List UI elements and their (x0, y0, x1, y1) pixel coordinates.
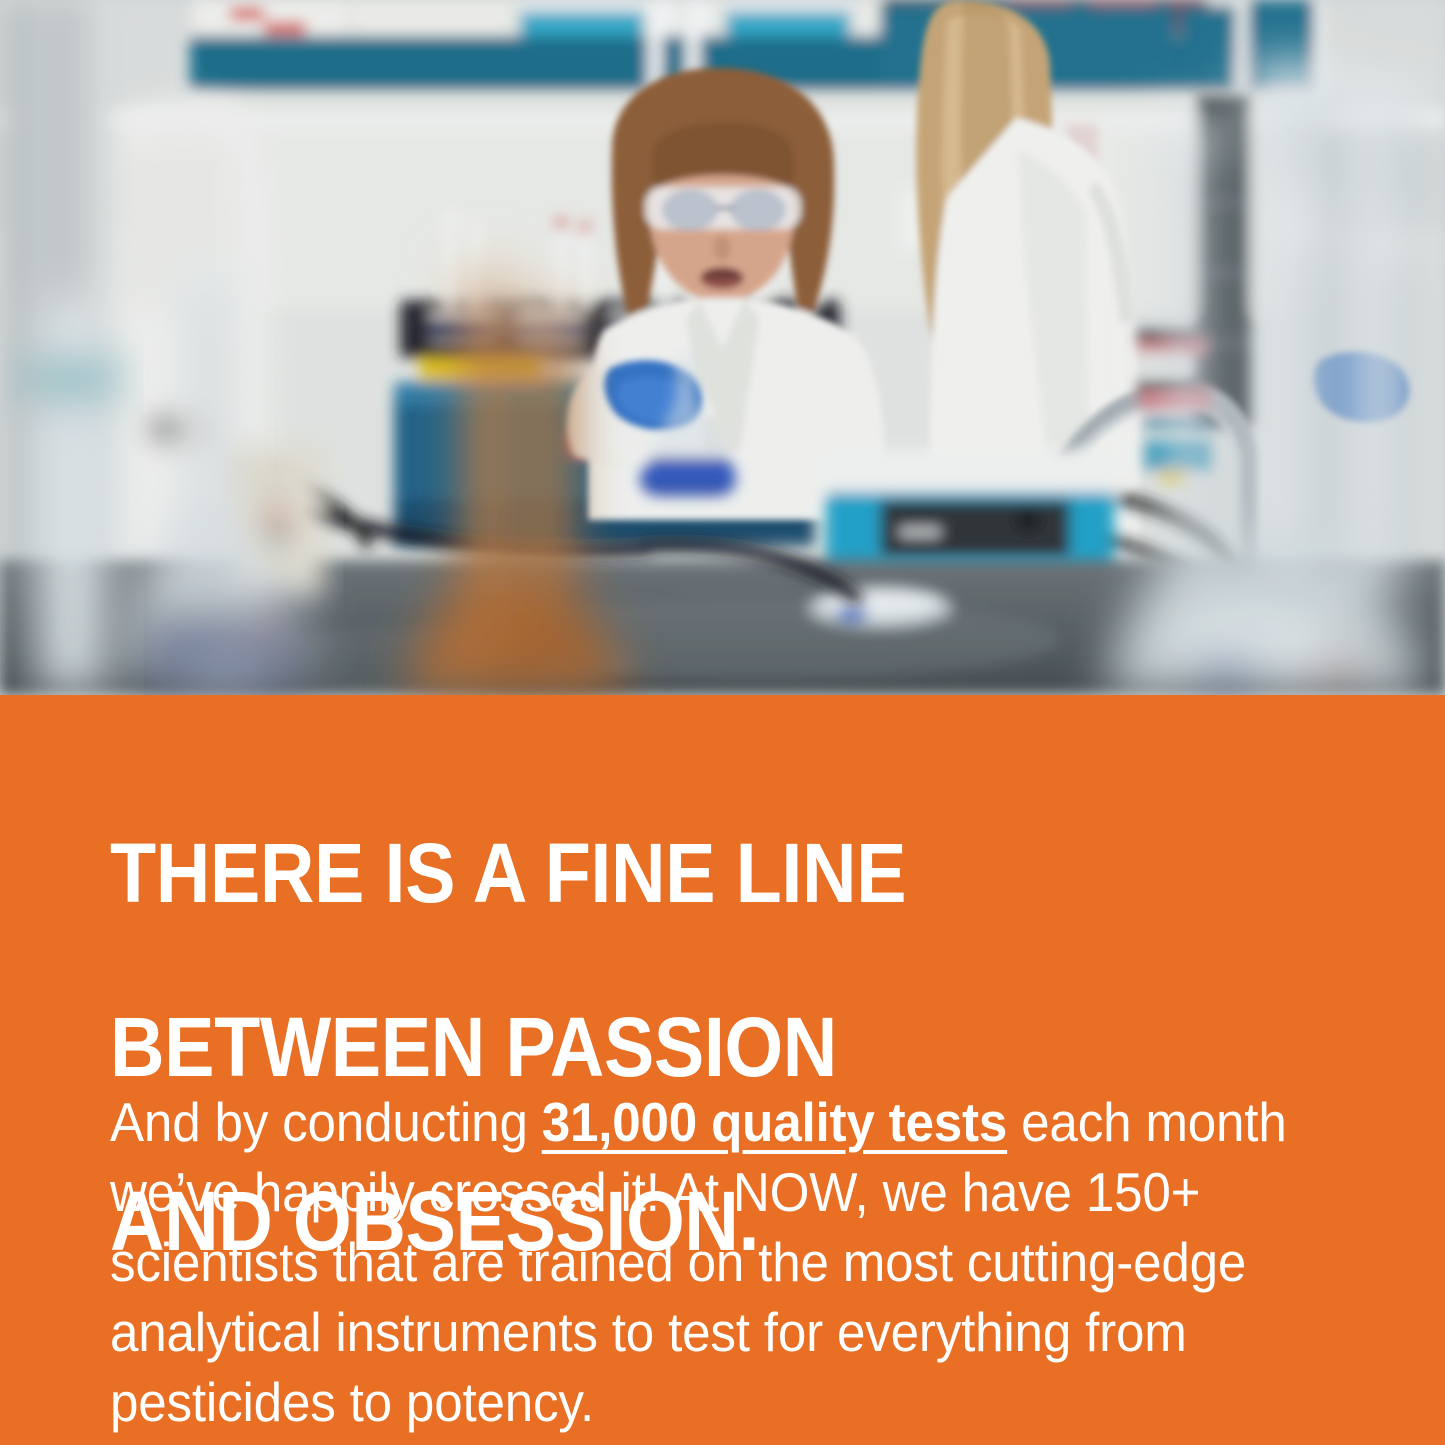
orange-text-panel: THERE IS A FINE LINE BETWEEN PASSION AND… (0, 695, 1445, 1445)
lab-photo-illustration: 500 (0, 0, 1445, 695)
body-text-part-1: And by conducting (110, 1091, 542, 1153)
lab-photo: 500 (0, 0, 1445, 695)
body-paragraph: And by conducting 31,000 quality tests e… (110, 1087, 1347, 1437)
headline-line-2: BETWEEN PASSION (110, 1004, 1217, 1091)
promo-card: 500 (0, 0, 1445, 1445)
quality-tests-emphasis: 31,000 quality tests (542, 1091, 1007, 1153)
headline-line-1: THERE IS A FINE LINE (110, 830, 1217, 917)
